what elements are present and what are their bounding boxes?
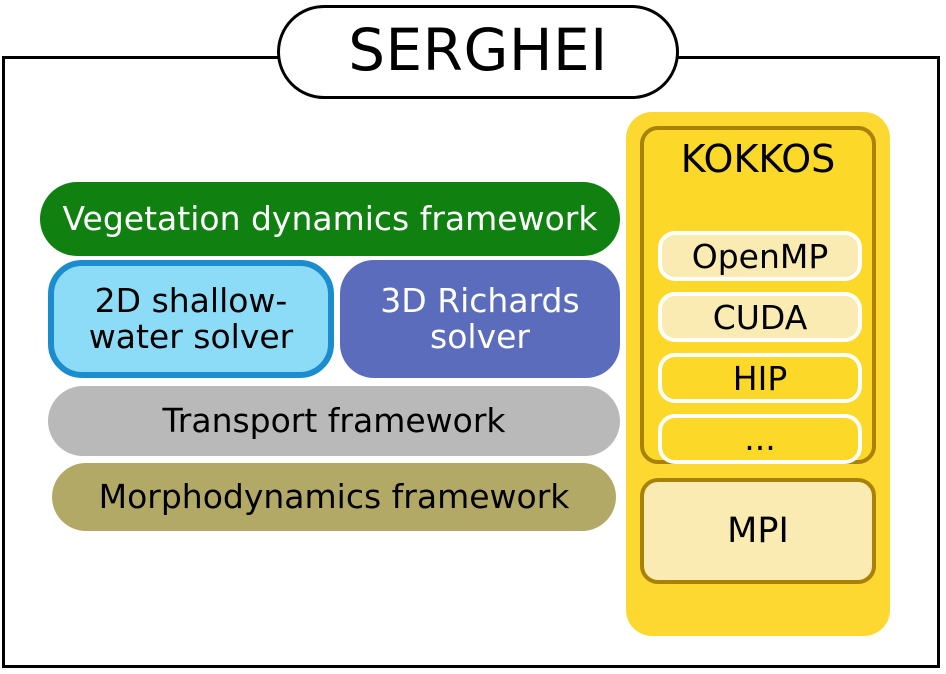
page-title: SERGHEI	[348, 21, 608, 83]
diagram-canvas: SERGHEI Vegetation dynamics framework 2D…	[0, 0, 946, 674]
component-label: Transport framework	[162, 403, 505, 439]
backend-item-label: MPI	[727, 511, 789, 551]
backend-item-mpi: MPI	[640, 478, 876, 584]
backend-item-hip: HIP	[658, 353, 862, 403]
backend-item-openmp: OpenMP	[658, 231, 862, 281]
component-label-line1: 3D Richards	[380, 281, 579, 320]
backend-item-more: ...	[658, 414, 862, 464]
backend-item-label: HIP	[733, 362, 787, 395]
backend-item-label: CUDA	[713, 301, 808, 334]
component-morphodynamics-framework: Morphodynamics framework	[52, 463, 616, 531]
component-label: Morphodynamics framework	[99, 479, 570, 515]
component-label: 2D shallow-water solver	[89, 283, 293, 354]
component-3d-richards-solver: 3D Richardssolver	[340, 260, 620, 378]
diagram-title-pill: SERGHEI	[277, 5, 679, 99]
backend-item-label: ...	[744, 430, 775, 448]
component-transport-framework: Transport framework	[48, 386, 620, 456]
component-label-line2: solver	[430, 317, 530, 356]
component-label: 3D Richardssolver	[380, 283, 579, 354]
backend-item-label: OpenMP	[692, 240, 829, 273]
kokkos-container: KOKKOS OpenMP CUDA HIP ...	[640, 126, 876, 464]
component-2d-shallow-water-solver: 2D shallow-water solver	[48, 260, 334, 378]
component-vegetation-dynamics-framework: Vegetation dynamics framework	[40, 182, 620, 256]
component-label-line1: 2D shallow-	[95, 281, 288, 320]
backend-item-cuda: CUDA	[658, 292, 862, 342]
kokkos-title: KOKKOS	[644, 140, 872, 178]
component-label: Vegetation dynamics framework	[63, 201, 598, 237]
component-label-line2: water solver	[89, 317, 293, 356]
